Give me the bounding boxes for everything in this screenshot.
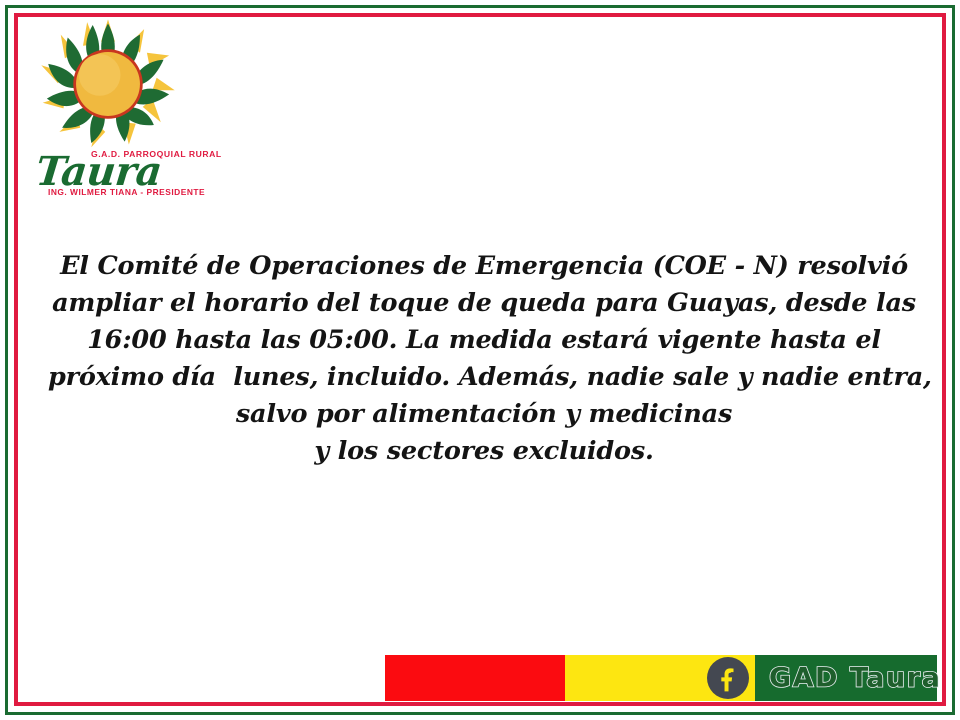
announcement-text: El Comité de Operaciones de Emergencia (… <box>48 248 920 470</box>
gad-taura-logo: G.A.D. PARROQUIAL RURAL Taura ING. WILME… <box>30 18 200 196</box>
logo-president-line: ING. WILMER TIANA - PRESIDENTE <box>48 187 205 197</box>
facebook-icon[interactable] <box>707 657 749 699</box>
message-line-5: salvo por alimentación y medicinas <box>48 396 920 433</box>
message-line-4: próximo día lunes, incluido. Además, nad… <box>48 359 920 396</box>
footer-bar-green: GAD Taura <box>755 655 937 701</box>
poster-canvas: G.A.D. PARROQUIAL RURAL Taura ING. WILME… <box>0 0 960 720</box>
message-line-2: ampliar el horario del toque de queda pa… <box>48 285 920 322</box>
footer-bar-yellow <box>565 655 755 701</box>
footer-bar-red <box>385 655 565 701</box>
logo-wordmark: G.A.D. PARROQUIAL RURAL Taura ING. WILME… <box>30 144 200 196</box>
footer-color-bars: GAD Taura <box>385 655 937 701</box>
message-line-1: El Comité de Operaciones de Emergencia (… <box>48 248 920 285</box>
gad-taura-brand-label: GAD Taura <box>769 663 941 694</box>
message-line-3: 16:00 hasta las 05:00. La medida estará … <box>48 322 920 359</box>
sun-emblem-icon <box>38 18 178 150</box>
message-line-6: y los sectores excluidos. <box>48 433 920 470</box>
